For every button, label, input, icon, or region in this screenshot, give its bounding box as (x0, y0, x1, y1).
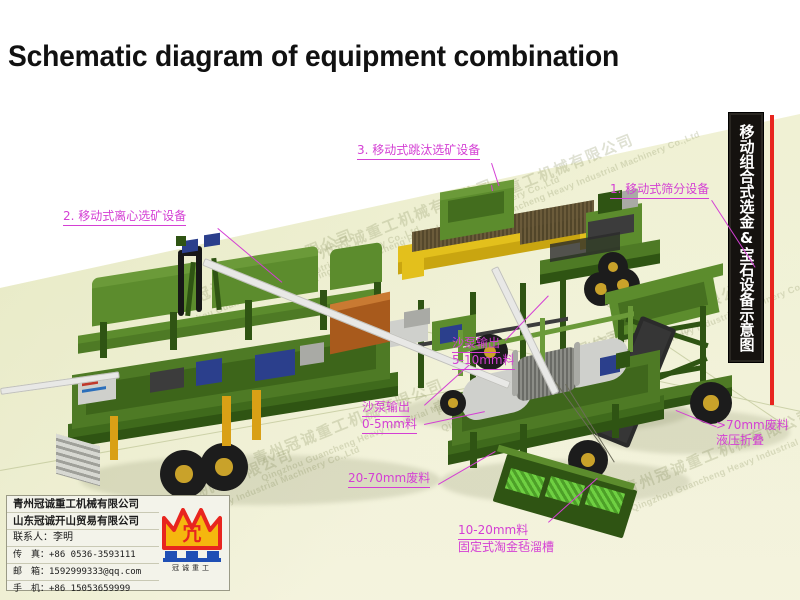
annotation-waste-70: >70mm废料 液压折叠 (716, 418, 789, 448)
svg-text:冗: 冗 (182, 523, 201, 545)
logo-caption: 冠诚重工 (161, 563, 223, 573)
contact-company-1: 青州冠诚重工机械有限公司 (7, 496, 159, 513)
banner-red-rule (770, 115, 774, 405)
crown-icon: 冗 (161, 508, 223, 550)
schematic-canvas: 青州冠诚重工机械有限公司 Qingzhou Guancheng Heavy In… (0, 0, 800, 600)
annotation-equip-3: 3. 移动式跳汰选矿设备 (357, 143, 480, 160)
page-title: Schematic diagram of equipment combinati… (8, 40, 619, 74)
annotation-equip-1: 1. 移动式筛分设备 (610, 182, 709, 199)
contact-email: 邮 箱：1592999333@qq.com (7, 564, 159, 581)
annotation-equip-2: 2. 移动式离心选矿设备 (63, 209, 186, 226)
contact-card: 青州冠诚重工机械有限公司 山东冠诚开山贸易有限公司 联系人：李明 传 真：+86… (6, 495, 230, 591)
company-logo: 冗 冠诚重工 (157, 504, 227, 582)
annotation-waste-20-70: 20-70mm废料 (348, 471, 430, 488)
annotation-sluice: 10-20mm料 固定式淘金毡溜槽 (458, 523, 554, 555)
annotation-sand-pump-0-5: 沙泵输出 0-5mm料 (362, 400, 417, 434)
vertical-banner: 移动组合式选金&宝石设备示意图 (729, 113, 763, 362)
contact-company-2: 山东冠诚开山贸易有限公司 (7, 513, 159, 530)
contact-fax: 传 真：+86 0536-3593111 (7, 547, 159, 564)
contact-mobile: 手 机：+86 15053659999 (7, 581, 159, 597)
contact-rows: 青州冠诚重工机械有限公司 山东冠诚开山贸易有限公司 联系人：李明 传 真：+86… (7, 496, 159, 590)
contact-person: 联系人：李明 (7, 530, 159, 547)
logo-base (163, 550, 221, 562)
